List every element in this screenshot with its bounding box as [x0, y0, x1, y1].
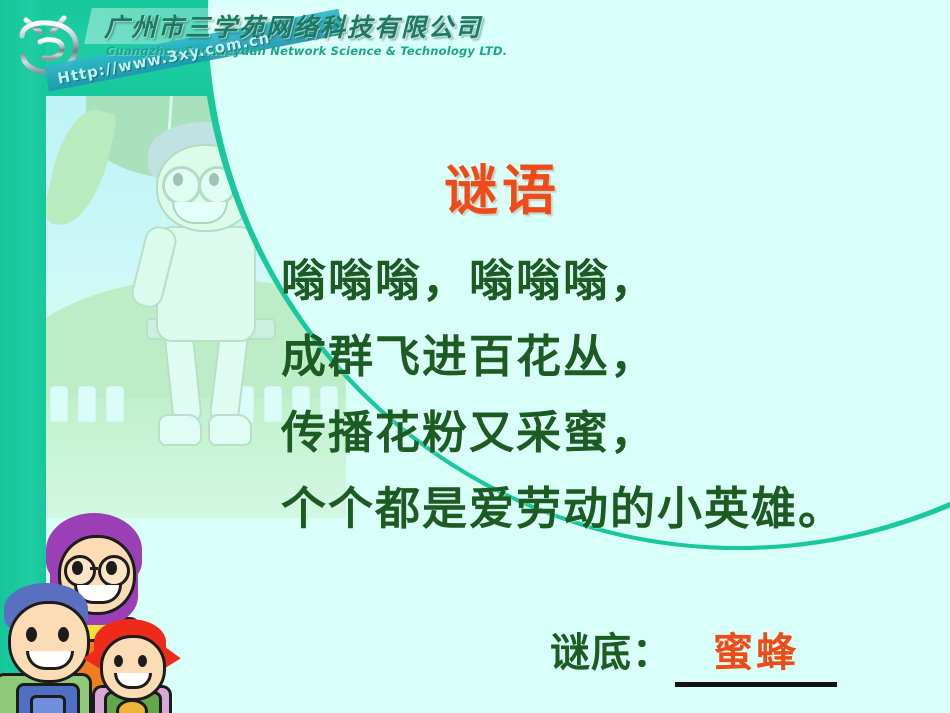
riddle-line: 个个都是爱劳动的小英雄。 — [281, 486, 845, 531]
cartoon-kids-group — [0, 499, 184, 713]
riddle-line: 成群飞进百花丛， — [281, 334, 657, 379]
presentation-slide: 广州市三学苑网络科技有限公司 Guangzhou Sanxueyuan Netw… — [0, 0, 950, 713]
riddle-line: 嗡嗡嗡，嗡嗡嗡， — [281, 258, 657, 303]
answer-label: 谜底： — [550, 620, 673, 678]
riddle-line: 传播花粉又采蜜， — [281, 410, 657, 455]
company-name-cn: 广州市三学苑网络科技有限公司 — [104, 8, 482, 44]
answer-value: 蜜蜂 — [713, 629, 799, 676]
answer-row: 谜底： 蜜蜂 — [550, 620, 837, 687]
answer-blank: 蜜蜂 — [675, 620, 837, 687]
slide-title: 谜语 — [444, 146, 560, 225]
